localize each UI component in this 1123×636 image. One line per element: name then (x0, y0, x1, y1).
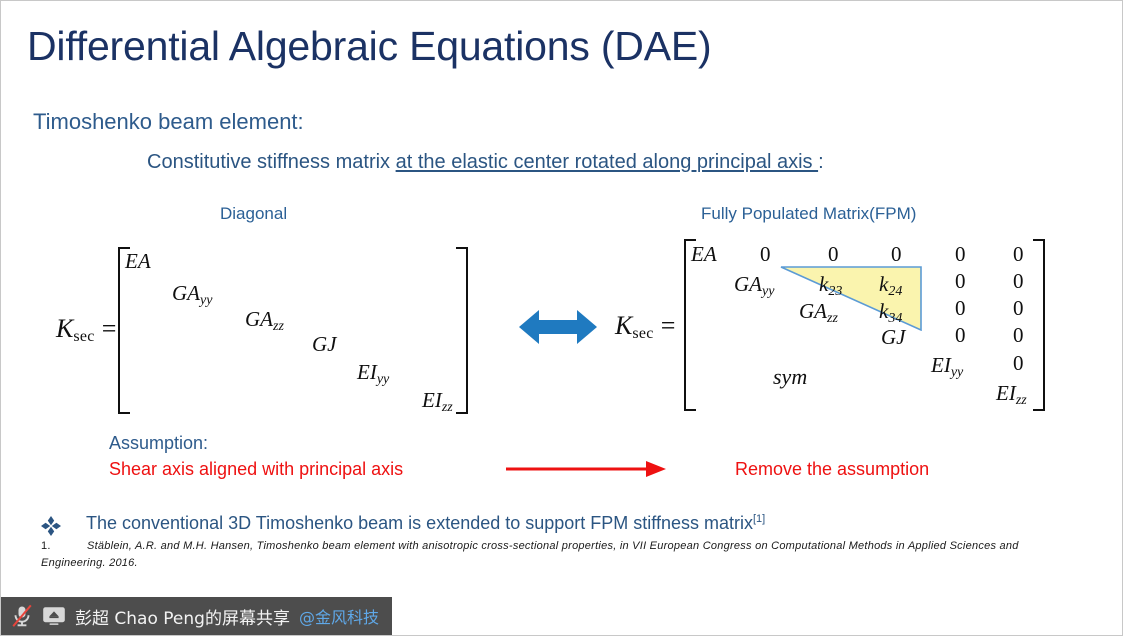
diagonal-cell-5-5: EIyy (357, 360, 389, 388)
ksec-sub: sec (632, 325, 653, 342)
diagonal-cell-6-6: EIzz (422, 388, 453, 416)
fpm-cell-3-5: 0 (955, 296, 966, 321)
fpm-cell-6-6: EIzz (996, 381, 1027, 409)
bidirectional-arrow-icon (519, 306, 597, 353)
remove-assumption-text: Remove the assumption (735, 459, 929, 480)
assumption-text: Shear axis aligned with principal axis (109, 459, 403, 480)
reference-footnote: 1.Stäblein, A.R. and M.H. Hansen, Timosh… (41, 538, 1086, 572)
cell-base: k (879, 272, 888, 296)
beam-element-heading: Timoshenko beam element: (33, 109, 304, 135)
fpm-cell-4-6: 0 (1013, 323, 1024, 348)
fpm-cell-2-4: k24 (879, 272, 902, 300)
diagonal-ksec-label: Ksec= (56, 314, 116, 346)
conclusion-bullet-text: The conventional 3D Timoshenko beam is e… (86, 513, 765, 534)
zoom-screenshare-bar: 彭超 Chao Peng的屏幕共享 @金风科技 (1, 597, 392, 635)
constitutive-plain-text: Constitutive stiffness matrix (147, 151, 396, 173)
footnote-number: 1. (41, 538, 87, 555)
cell-sub: zz (442, 400, 453, 415)
cell-sub: yy (951, 365, 963, 380)
fpm-right-bracket (1033, 239, 1045, 411)
fpm-cell-1-1: EA (691, 242, 717, 267)
fpm-cell-4-5: 0 (955, 323, 966, 348)
cell-base: EI (422, 388, 442, 412)
fpm-cell-1-6: 0 (1013, 242, 1024, 267)
cell-sub: 34 (888, 311, 902, 326)
fpm-cell-2-3: k23 (819, 272, 842, 300)
diagonal-right-bracket (456, 247, 468, 414)
ksec-equals: = (661, 311, 676, 340)
cell-base: EI (931, 353, 951, 377)
screenshare-host-tag: @金风科技 (299, 604, 379, 628)
fpm-cell-1-2: 0 (760, 242, 771, 267)
cell-base: GA (734, 272, 762, 296)
caption-diagonal: Diagonal (220, 204, 287, 224)
cell-base: GJ (312, 332, 337, 356)
diagonal-cell-3-3: GAzz (245, 307, 284, 335)
ksec-equals: = (102, 314, 117, 343)
microphone-muted-icon[interactable] (11, 604, 33, 628)
ksec-sub: sec (73, 328, 94, 345)
fpm-cell-1-3: 0 (828, 242, 839, 267)
ksec-k: K (615, 311, 632, 340)
cell-base: GA (172, 281, 200, 305)
cell-sub: zz (827, 311, 838, 326)
fpm-cell-2-5: 0 (955, 269, 966, 294)
cell-sub: yy (377, 372, 389, 387)
fpm-cell-5-6: 0 (1013, 351, 1024, 376)
fpm-cell-3-4: k34 (879, 299, 902, 327)
footnote-text: Stäblein, A.R. and M.H. Hansen, Timoshen… (41, 540, 1019, 569)
page-title: Differential Algebraic Equations (DAE) (27, 23, 711, 70)
fpm-cell-3-6: 0 (1013, 296, 1024, 321)
cell-sub: 24 (888, 284, 902, 299)
cell-base: GA (245, 307, 273, 331)
bullet-reference-superscript: [1] (753, 513, 765, 525)
fpm-cell-2-2: GAyy (734, 272, 774, 300)
constitutive-underlined-text: at the elastic center rotated along prin… (396, 151, 818, 173)
screenshare-owner-label: 彭超 Chao Peng的屏幕共享 (75, 604, 290, 629)
diagonal-cell-4-4: GJ (312, 332, 337, 360)
bullet-main-text: The conventional 3D Timoshenko beam is e… (86, 513, 753, 533)
fpm-symmetric-label: sym (773, 364, 807, 390)
cell-sub: zz (1016, 393, 1027, 408)
fpm-ksec-label: Ksec= (615, 311, 675, 343)
constitutive-stiffness-line: Constitutive stiffness matrix at the ela… (147, 151, 824, 174)
assumption-label: Assumption: (109, 433, 208, 454)
red-right-arrow-icon (506, 458, 666, 485)
cell-sub: zz (273, 319, 284, 334)
fpm-cell-1-4: 0 (891, 242, 902, 267)
cell-base: EA (125, 249, 151, 273)
cell-base: EI (996, 381, 1016, 405)
fpm-cell-2-6: 0 (1013, 269, 1024, 294)
constitutive-colon: : (818, 151, 824, 173)
diagonal-cell-1-1: EA (125, 249, 151, 277)
fpm-cell-4-4: GJ (881, 325, 906, 350)
cell-base: GA (799, 299, 827, 323)
cell-base: k (879, 299, 888, 323)
cell-sub: yy (762, 284, 774, 299)
conclusion-bullet-row: The conventional 3D Timoshenko beam is e… (41, 513, 765, 536)
cell-sub: yy (200, 293, 212, 308)
cell-base: EI (357, 360, 377, 384)
cell-base: k (819, 272, 828, 296)
fpm-cell-5-5: EIyy (931, 353, 963, 381)
diagonal-cell-2-2: GAyy (172, 281, 212, 309)
caption-fully-populated-matrix: Fully Populated Matrix(FPM) (701, 204, 916, 224)
cell-sub: 23 (828, 284, 842, 299)
slide-canvas: Differential Algebraic Equations (DAE) T… (0, 0, 1123, 636)
diamond-bullet-icon (41, 516, 61, 536)
screen-share-icon[interactable] (42, 606, 66, 626)
fpm-cell-3-3: GAzz (799, 299, 838, 327)
ksec-k: K (56, 314, 73, 343)
fpm-cell-1-5: 0 (955, 242, 966, 267)
